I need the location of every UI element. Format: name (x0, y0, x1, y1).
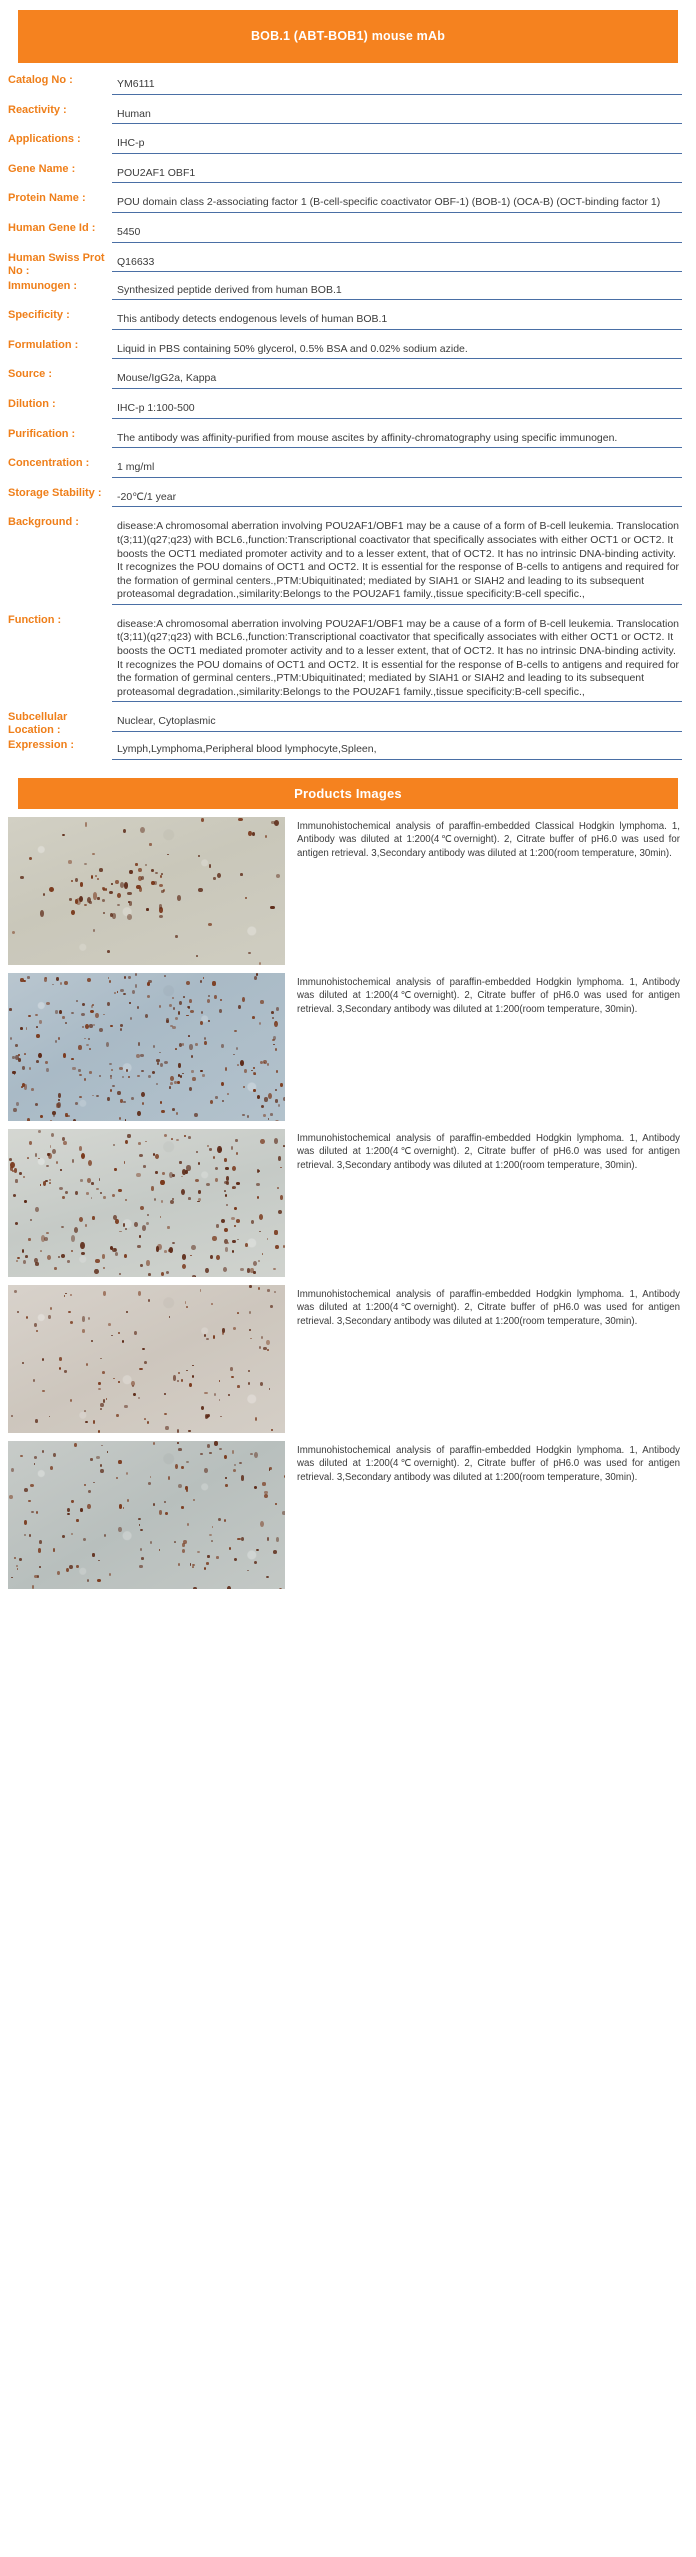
stained-cell (97, 1579, 100, 1582)
stained-cells-layer (8, 973, 285, 1121)
stained-cell (254, 976, 257, 980)
stained-cell (258, 1260, 261, 1262)
stained-cell (161, 1200, 163, 1203)
stained-cell (135, 863, 137, 865)
stained-cell (46, 1165, 49, 1167)
stained-cell (208, 995, 210, 997)
stained-cell (64, 1295, 66, 1297)
stained-cell (200, 980, 203, 983)
stained-cell (183, 1540, 187, 1544)
stained-cell (218, 1518, 221, 1521)
stained-cell (146, 1260, 149, 1265)
stained-cell (282, 1511, 285, 1514)
stained-cell (182, 1169, 186, 1175)
stained-cell (24, 1200, 27, 1203)
stained-cell (148, 1482, 151, 1485)
stained-cell (132, 990, 135, 994)
row-spacer (8, 243, 682, 252)
stained-cell (145, 1014, 148, 1018)
row-spacer (8, 507, 682, 516)
stained-cell (170, 1082, 173, 1085)
stained-cell (67, 1513, 70, 1516)
stained-cell (15, 1222, 19, 1225)
stained-cell (159, 1052, 161, 1054)
stained-cell (95, 1013, 98, 1018)
stained-cell (24, 1520, 27, 1525)
stained-cell (36, 1034, 40, 1038)
stained-cell (275, 1048, 277, 1051)
image-caption: Immunohistochemical analysis of paraffin… (285, 1441, 682, 1484)
stained-cell (267, 1063, 269, 1065)
stained-cell (140, 1054, 143, 1057)
stained-cell (213, 1335, 215, 1338)
property-value: -20℃/1 year (112, 487, 682, 508)
stained-cell (103, 1014, 105, 1015)
stained-cell (139, 1154, 143, 1157)
stained-cell (81, 1153, 85, 1159)
stained-cell (119, 1504, 123, 1509)
stained-cell (151, 1186, 154, 1190)
stained-cell (136, 1173, 140, 1177)
stained-cell (184, 1135, 186, 1137)
stained-cell (51, 1133, 54, 1137)
stained-cell (263, 1060, 267, 1065)
stained-cell (139, 1565, 142, 1569)
stained-cell (195, 1043, 197, 1046)
stained-cell (108, 1323, 111, 1326)
stained-cell (112, 913, 116, 918)
stained-cell (118, 1527, 121, 1532)
stained-cell (255, 1417, 258, 1421)
row-spacer (8, 419, 682, 428)
stained-cell (26, 1027, 28, 1030)
stained-cell (198, 1190, 201, 1193)
stained-cell (238, 818, 243, 821)
stained-cell (227, 1093, 229, 1095)
stained-cell (98, 1430, 100, 1433)
property-value: Nuclear, Cytoplasmic (112, 711, 682, 732)
ihc-micrograph-image[interactable] (8, 1285, 285, 1433)
property-label: Source : (8, 368, 112, 389)
ihc-micrograph-image[interactable] (8, 817, 285, 965)
stained-cell (118, 1189, 122, 1193)
stained-cell (57, 1102, 61, 1108)
stained-cell (22, 1083, 25, 1087)
stained-cell (84, 1410, 86, 1412)
stained-cell (283, 1245, 285, 1248)
property-value: The antibody was affinity-purified from … (112, 428, 682, 449)
stained-cell (85, 1024, 89, 1029)
stained-cell (175, 1464, 178, 1469)
stained-cell (27, 1157, 29, 1159)
stained-cell (273, 1044, 275, 1046)
stained-cell (124, 1161, 126, 1164)
property-row: Specificity :This antibody detects endog… (8, 309, 682, 330)
stained-cell (201, 818, 205, 822)
stained-cell (219, 1148, 222, 1151)
stained-cell (172, 1108, 175, 1111)
stained-cell (124, 1254, 127, 1258)
stained-cell (253, 1271, 255, 1274)
stained-cell (270, 906, 274, 910)
stained-cell (31, 1088, 34, 1091)
stained-cell (208, 923, 212, 926)
stained-cell (89, 1071, 92, 1073)
row-spacer (8, 95, 682, 104)
row-spacer-cell (8, 448, 682, 457)
stained-cell (26, 1316, 28, 1319)
stained-cell (49, 1182, 51, 1184)
stained-cell (157, 1062, 159, 1064)
stained-cell (182, 1254, 186, 1259)
stained-cell (78, 1069, 81, 1073)
stained-cell (128, 1076, 130, 1079)
stained-cell (119, 1231, 121, 1233)
stained-cell (249, 1311, 252, 1314)
ihc-micrograph-image[interactable] (8, 973, 285, 1121)
stained-cell (123, 993, 126, 995)
stained-cell (88, 1490, 91, 1493)
stained-cell (110, 1025, 112, 1027)
stained-cell (39, 1566, 41, 1568)
stained-cell (194, 1113, 198, 1117)
stained-cell (79, 1146, 82, 1151)
stained-cell (49, 887, 54, 892)
stained-cell (267, 1349, 269, 1350)
stained-cell (232, 1450, 234, 1453)
stained-cell (257, 1095, 260, 1099)
stained-cell (100, 1192, 102, 1194)
stained-cell (273, 1550, 277, 1554)
stained-cell (221, 1219, 225, 1223)
stained-cell (231, 1217, 235, 1220)
stained-cell (119, 1117, 122, 1120)
stained-cell (125, 1199, 127, 1201)
stained-cell (92, 1553, 95, 1556)
stained-cell (35, 1419, 38, 1423)
stained-cell (84, 1038, 86, 1040)
stained-cell (147, 1421, 149, 1423)
stained-cell (98, 1382, 101, 1385)
row-spacer (8, 183, 682, 192)
stained-cell (270, 1113, 273, 1115)
stained-cells-layer (8, 1285, 285, 1433)
stained-cell (17, 1257, 20, 1259)
stained-cell (219, 1380, 221, 1382)
stained-cell (164, 1134, 168, 1138)
stained-cell (242, 1114, 244, 1117)
stained-cell (198, 1162, 201, 1165)
property-row: Purification :The antibody was affinity-… (8, 428, 682, 449)
stained-cell (110, 1089, 113, 1092)
stained-cell (189, 999, 192, 1003)
stained-cell (56, 1161, 58, 1164)
property-value: POU domain class 2-associating factor 1 … (112, 192, 682, 213)
stained-cell (182, 1073, 184, 1074)
stained-cell (81, 1252, 85, 1256)
stained-cell (104, 1534, 106, 1537)
stained-cell (84, 1484, 87, 1486)
stained-cell (140, 1206, 144, 1210)
stained-cell (63, 1141, 67, 1146)
property-value: Human (112, 104, 682, 125)
property-row: Concentration :1 mg/ml (8, 457, 682, 478)
stained-cell (139, 1524, 141, 1526)
stained-cell (108, 977, 110, 979)
property-value-cell: Q16633 (112, 252, 682, 278)
property-value-cell: IHC-p 1:100-500 (112, 398, 682, 419)
page-bottom-spacer (0, 1589, 696, 1603)
stained-cell (241, 1537, 244, 1541)
stained-cell (87, 978, 91, 982)
stained-cell (95, 1259, 99, 1263)
stained-cell (160, 1180, 164, 1186)
stained-cell (220, 999, 222, 1001)
property-row: Applications :IHC-p (8, 133, 682, 154)
stained-cell (209, 864, 212, 868)
stained-cell (162, 1172, 165, 1175)
stained-cell (236, 1219, 240, 1223)
stained-cell (251, 1220, 254, 1224)
stained-cell (210, 1100, 213, 1104)
stained-cell (143, 1165, 146, 1167)
product-image-row: Immunohistochemical analysis of paraffin… (8, 817, 682, 965)
stained-cell (259, 1022, 262, 1026)
product-image-row: Immunohistochemical analysis of paraffin… (8, 1129, 682, 1277)
stained-cell (166, 1018, 169, 1022)
row-spacer-cell (8, 95, 682, 104)
property-value: 5450 (112, 222, 682, 243)
stained-cell (101, 1445, 103, 1446)
stained-cell (92, 1216, 94, 1220)
stained-cell (147, 982, 150, 986)
stained-cell (182, 1043, 184, 1045)
datasheet-page: BOB.1 (ABT-BOB1) mouse mAb Catalog No :Y… (0, 10, 696, 1603)
stained-cell (237, 1312, 239, 1314)
ihc-micrograph-image[interactable] (8, 1129, 285, 1277)
stained-cell (71, 1235, 75, 1241)
stained-cell (251, 1070, 253, 1072)
stained-cell (254, 1452, 258, 1458)
stained-cell (225, 1477, 227, 1480)
stained-cell (29, 1067, 31, 1070)
stained-cell (59, 1367, 61, 1370)
stained-cell (279, 1588, 282, 1589)
stained-cell (16, 1102, 19, 1105)
stained-cell (225, 1167, 228, 1170)
stained-cell (131, 1381, 134, 1386)
stained-cell (164, 1393, 166, 1396)
stained-cell (167, 854, 169, 856)
stained-cell (274, 1291, 277, 1293)
stained-cell (176, 1139, 179, 1141)
stained-cell (242, 997, 245, 1002)
stained-cell (38, 1130, 41, 1133)
stained-cell (271, 821, 274, 824)
image-caption: Immunohistochemical analysis of paraffin… (285, 1129, 682, 1172)
stained-cell (253, 1261, 257, 1266)
stained-cell (65, 1293, 67, 1295)
stained-cell (159, 915, 164, 919)
stained-cell (197, 1201, 199, 1203)
stained-cell (102, 1254, 105, 1259)
stained-cell (159, 1510, 162, 1514)
stained-cell (106, 1042, 109, 1047)
stained-cell (100, 1403, 103, 1407)
stained-cell (259, 1346, 262, 1350)
stained-cell (140, 1264, 143, 1267)
stained-cell (267, 1289, 270, 1291)
stained-cell (214, 1393, 216, 1396)
stained-cell (102, 899, 105, 902)
row-spacer-cell (8, 359, 682, 368)
stained-cell (276, 1007, 279, 1011)
stained-cell (20, 1455, 22, 1457)
stained-cell (181, 1466, 184, 1469)
property-row: Gene Name :POU2AF1 OBF1 (8, 163, 682, 184)
stained-cell (224, 1181, 228, 1184)
property-value: IHC-p 1:100-500 (112, 398, 682, 419)
stained-cell (192, 1375, 194, 1378)
stained-cell (38, 1053, 41, 1058)
stained-cell (32, 1585, 35, 1589)
stained-cell (212, 1526, 214, 1528)
stained-cell (174, 1081, 177, 1085)
stained-cell (80, 1179, 84, 1182)
stained-cell (205, 1268, 209, 1273)
row-spacer-cell (8, 507, 682, 516)
stained-cells-layer (8, 817, 285, 965)
stained-cell (82, 1026, 84, 1028)
stained-cell (34, 1456, 37, 1459)
stained-cell (182, 1264, 186, 1269)
property-value: This antibody detects endogenous levels … (112, 309, 682, 330)
stained-cell (97, 897, 99, 901)
stained-cell (65, 1191, 68, 1194)
stained-cell (178, 1372, 181, 1375)
stained-cell (86, 1192, 89, 1194)
stained-cell (129, 1002, 131, 1004)
stained-cell (262, 1482, 266, 1485)
stained-cell (178, 1063, 181, 1067)
property-row: Reactivity :Human (8, 104, 682, 125)
ihc-micrograph-image[interactable] (8, 1441, 285, 1589)
stained-cell (174, 1541, 176, 1543)
stained-cell (62, 1016, 64, 1019)
stained-cell (259, 1231, 261, 1232)
stained-cell (234, 1207, 237, 1210)
stained-cell (178, 1563, 180, 1566)
stained-cell (237, 1385, 239, 1388)
stained-cell (15, 1179, 17, 1182)
stained-cell (60, 1169, 62, 1172)
stained-cell (231, 1376, 233, 1378)
row-spacer-cell (8, 389, 682, 398)
row-spacer-cell (8, 419, 682, 428)
stained-cell (207, 1444, 211, 1448)
stained-cell (232, 1240, 236, 1244)
stained-cell (93, 929, 95, 931)
property-row: Human Swiss Prot No :Q16633 (8, 252, 682, 278)
stained-cell (109, 980, 112, 983)
stained-cell (223, 1267, 227, 1272)
stained-cell (67, 1260, 70, 1263)
stained-cell (64, 981, 68, 985)
stained-cell (276, 1070, 278, 1072)
stained-cell (250, 1453, 253, 1455)
stained-cell (76, 1000, 78, 1002)
stained-cell (39, 1540, 42, 1544)
stained-cell (180, 1075, 182, 1078)
stained-cell (100, 1358, 102, 1359)
stained-cell (119, 1067, 123, 1070)
stained-cell (87, 897, 91, 903)
stained-cell (249, 1285, 251, 1288)
stained-cell (96, 1095, 99, 1098)
stained-cell (20, 1027, 22, 1030)
stained-cell (234, 1558, 237, 1561)
stained-cell (95, 875, 98, 878)
stained-cell (72, 1067, 75, 1071)
stained-cell (58, 1037, 60, 1040)
stained-cell (221, 1044, 224, 1048)
stained-cell (24, 1534, 26, 1537)
stained-cell (70, 1321, 73, 1324)
stained-cell (103, 912, 105, 914)
stained-cell (276, 1537, 279, 1542)
stained-cell (88, 1317, 90, 1320)
row-spacer-cell (8, 478, 682, 487)
row-spacer (8, 448, 682, 457)
product-properties-body: Catalog No :YM6111Reactivity :HumanAppli… (8, 74, 682, 760)
property-label: Storage Stability : (8, 487, 112, 508)
property-value: Synthesized peptide derived from human B… (112, 280, 682, 301)
stained-cell (222, 1100, 224, 1102)
stained-cell (54, 1267, 57, 1271)
stained-cell (200, 1289, 202, 1291)
stained-cell (88, 1160, 92, 1166)
stained-cell (277, 1187, 279, 1189)
stained-cell (258, 1287, 261, 1290)
stained-cell (25, 1255, 29, 1258)
stained-cell (187, 1006, 190, 1008)
stained-cell (59, 1357, 62, 1360)
stained-cell (90, 1458, 93, 1460)
stained-cell (102, 1371, 105, 1374)
stained-cell (28, 1500, 31, 1503)
stained-cell (139, 887, 142, 892)
stained-cell (198, 855, 200, 857)
stained-cell (28, 1238, 30, 1241)
stained-cell (129, 901, 133, 906)
stained-cell (275, 1503, 277, 1505)
stained-cell (124, 1405, 127, 1409)
property-value-cell: 5450 (112, 222, 682, 243)
stained-cell (139, 1368, 142, 1371)
stained-cell (156, 1083, 158, 1085)
stained-cell (222, 1332, 225, 1335)
stained-cell (9, 1495, 13, 1499)
stained-cell (78, 1045, 82, 1050)
stained-cell (236, 1182, 239, 1185)
row-spacer-cell (8, 183, 682, 192)
stained-cell (272, 1017, 274, 1019)
stained-cell (189, 1087, 192, 1091)
stained-cell (74, 1443, 77, 1447)
stained-cell (265, 835, 267, 838)
row-spacer (8, 154, 682, 163)
stained-cell (34, 1575, 37, 1578)
